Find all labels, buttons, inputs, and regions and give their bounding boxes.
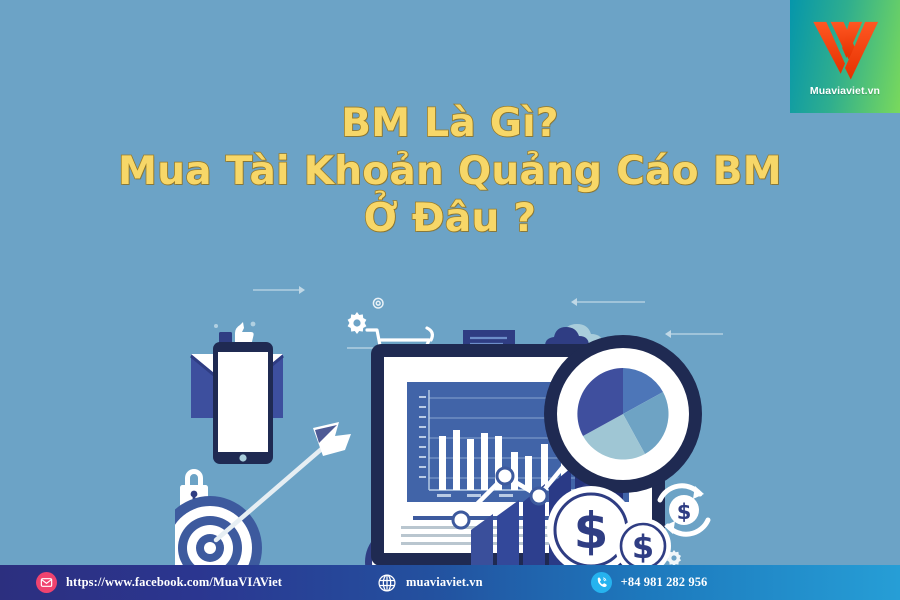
gear-icon (373, 298, 383, 308)
footer-item-phone[interactable]: +84 981 282 956 (591, 565, 708, 600)
footer-facebook-label: https://www.facebook.com/MuaVIAViet (66, 575, 282, 590)
promo-banner: Muaviaviet.vn BM Là Gì? Mua Tài Khoản Qu… (0, 0, 900, 600)
pie-chart-icon (577, 368, 668, 460)
smartphone-icon (213, 342, 273, 464)
target-dartboard-icon (175, 496, 262, 568)
footer-item-website[interactable]: muaviaviet.vn (376, 565, 483, 600)
footer-item-facebook[interactable]: https://www.facebook.com/MuaVIAViet (36, 565, 282, 600)
refresh-dollar-icon: $ (660, 486, 708, 534)
double-v-logo-icon (809, 19, 881, 81)
footer-website-label: muaviaviet.vn (406, 575, 483, 590)
digital-marketing-illustration: $ $ $ (175, 268, 730, 568)
gear-icon (348, 312, 367, 334)
title-line-3: Ở Đâu ? (0, 195, 900, 243)
mail-icon (36, 572, 57, 593)
svg-text:$: $ (574, 502, 609, 560)
page-title: BM Là Gì? Mua Tài Khoản Quảng Cáo BM Ở Đ… (0, 100, 900, 243)
phone-icon (591, 572, 612, 593)
svg-text:$: $ (677, 500, 692, 524)
title-line-1: BM Là Gì? (0, 100, 900, 148)
contact-footer: https://www.facebook.com/MuaVIAViet muav… (0, 565, 900, 600)
title-line-2: Mua Tài Khoản Quảng Cáo BM (0, 148, 900, 196)
svg-text:$: $ (632, 528, 654, 566)
logo-tile[interactable]: Muaviaviet.vn (790, 0, 900, 113)
footer-phone-label: +84 981 282 956 (621, 575, 708, 590)
globe-icon (376, 572, 397, 593)
logo-text: Muaviaviet.vn (810, 85, 880, 97)
